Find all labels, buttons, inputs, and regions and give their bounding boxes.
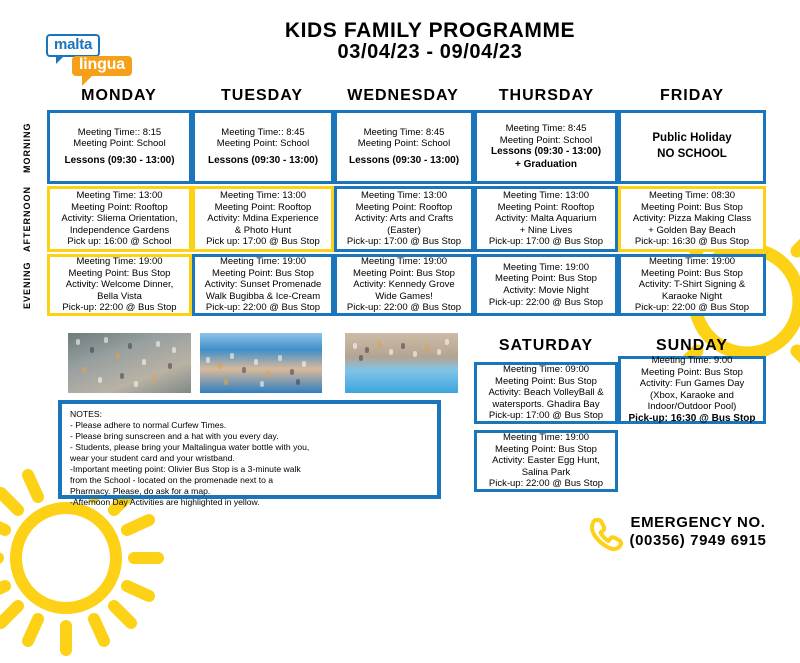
cell-line: Activity: Sliema Orientation, [61,213,177,225]
cell-line: Pick-up: 22:00 @ Bus Stop [489,297,603,309]
notes-item: -Afternoon Day Activities are highlighte… [70,497,429,508]
cell-line: Pick-up: 22:00 @ Bus Stop [62,302,176,314]
cell-line: Meeting Point: Rooftop [356,202,453,214]
cell-line: Meeting Point: Rooftop [71,202,168,214]
notes-title: NOTES: [70,409,429,420]
cell-line: Activity: Kennedy Grove [353,279,454,291]
cell-saturday-morning[interactable]: Meeting Time: 09:00 Meeting Point: Bus S… [474,362,618,424]
cell-line: (Easter) [387,225,421,237]
cell-friday-evening[interactable]: Meeting Time: 19:00 Meeting Point: Bus S… [618,254,766,316]
cell-line: Pick-up: 17:00 @ Bus Stop [489,410,603,422]
row-label-evening: EVENING [22,254,40,316]
cell-highlight: Lessons (09:30 - 13:00) [491,146,601,158]
cell-line: Bella Vista [97,291,142,303]
cell-line: Wide Games! [375,291,433,303]
cell-sunday-allday[interactable]: Meeting Time: 9:00 Meeting Point: Bus St… [618,356,766,424]
cell-thursday-evening[interactable]: Meeting Time: 19:00 Meeting Point: Bus S… [474,254,618,316]
day-header-saturday: SATURDAY [474,337,618,355]
cell-line: Pick up: 16:00 @ School [67,236,171,248]
cell-line: Activity: Mdina Experience [207,213,318,225]
day-header-tuesday: TUESDAY [192,87,332,105]
cell-line: Activity: Movie Night [503,285,589,297]
cell-line: Pick up: 17:00 @ Bus Stop [206,236,320,248]
day-header-wednesday: WEDNESDAY [333,87,473,105]
cell-line: Meeting Point: Bus Stop [495,273,597,285]
row-label-morning: MORNING [22,112,40,184]
notes-item: - Please adhere to normal Curfew Times. [70,420,429,431]
cell-line: Activity: Welcome Dinner, [66,279,174,291]
maltalingua-logo: malta lingua [46,34,142,86]
notes-item: - Please bring sunscreen and a hat with … [70,431,429,442]
cell-line: Activity: Pizza Making Class [633,213,751,225]
cell-line: Meeting Point: Bus Stop [641,367,743,379]
page-title: KIDS FAMILY PROGRAMME 03/04/23 - 09/04/2… [270,20,590,63]
cell-line: Meeting Point: Rooftop [498,202,595,214]
title-main: KIDS FAMILY PROGRAMME [270,20,590,42]
cell-line: + Golden Bay Beach [648,225,735,237]
cell-line: Meeting Time: 19:00 [76,256,162,268]
cell-line: Meeting Time: 19:00 [649,256,735,268]
cell-line: (Xbox, Karaoke and [650,390,734,402]
day-header-sunday: SUNDAY [618,337,766,355]
cell-line: Meeting Point: Bus Stop [641,268,743,280]
cell-holiday-line2: NO SCHOOL [657,147,727,163]
logo-malta-text: malta [46,34,100,57]
cell-line: Meeting Point: School [73,138,165,150]
cell-line: Pick-up: 22:00 @ Bus Stop [635,302,749,314]
notes-item: - Students, please bring your Maltalingu… [70,442,429,453]
photo-texture [345,333,458,393]
cell-line: watersports. Ghadira Bay [492,399,599,411]
cell-monday-morning[interactable]: Meeting Time:: 8:15 Meeting Point: Schoo… [47,110,192,184]
cell-tuesday-evening[interactable]: Meeting Time: 19:00 Meeting Point: Bus S… [192,254,334,316]
cell-tuesday-afternoon[interactable]: Meeting Time: 13:00 Meeting Point: Rooft… [192,186,334,252]
notes-box: NOTES: - Please adhere to normal Curfew … [58,400,441,499]
cell-line: Meeting Point: Bus Stop [641,202,743,214]
cell-line: Meeting Point: Rooftop [215,202,312,214]
group-photo-beach-aerial [68,333,191,393]
group-photo-boat-party [200,333,322,393]
cell-line: Pick-up: 16:30 @ Bus Stop [635,236,749,248]
photo-texture [200,333,322,393]
cell-tuesday-morning[interactable]: Meeting Time:: 8:45 Meeting Point: Schoo… [192,110,334,184]
notes-item: Pharmacy. Please, do ask for a map. [70,486,429,497]
logo-lingua-text: lingua [72,56,132,76]
cell-line: Meeting Time: 13:00 [220,190,306,202]
notes-item: from the School - located on the promena… [70,475,429,486]
cell-line: Meeting Time: 8:45 [364,127,445,139]
cell-line: Pick-up: 17:00 @ Bus Stop [489,236,603,248]
cell-line: Meeting Time: 09:00 [503,364,589,376]
cell-line: Activity: Fun Games Day [640,378,745,390]
emergency-number: (00356) 7949 6915 [610,532,786,549]
notes-item: wear your student card and your wristban… [70,453,429,464]
cell-line: Activity: Beach VolleyBall & [488,387,603,399]
cell-line: Meeting Time: 19:00 [503,262,589,274]
day-header-monday: MONDAY [49,87,189,105]
cell-line: Pick-up: 22:00 @ Bus Stop [347,302,461,314]
cell-thursday-afternoon[interactable]: Meeting Time: 13:00 Meeting Point: Rooft… [474,186,618,252]
cell-line: Activity: T-Shirt Signing & [639,279,745,291]
day-header-thursday: THURSDAY [474,87,619,105]
cell-line: Meeting Point: School [500,135,592,147]
cell-line: Meeting Time:: 8:45 [221,127,304,139]
cell-line: Activity: Easter Egg Hunt, [492,455,600,467]
photo-texture [68,333,191,393]
cell-monday-evening[interactable]: Meeting Time: 19:00 Meeting Point: Bus S… [47,254,192,316]
cell-wednesday-morning[interactable]: Meeting Time: 8:45 Meeting Point: School… [334,110,474,184]
cell-line: Meeting Point: School [217,138,309,150]
group-photo-pool [345,333,458,393]
cell-line: Meeting Point: Bus Stop [353,268,455,280]
cell-thursday-morning[interactable]: Meeting Time: 8:45 Meeting Point: School… [474,110,618,184]
cell-line: Activity: Sunset Promenade [205,279,322,291]
cell-line: Salina Park [522,467,571,479]
cell-line: Karaoke Night [662,291,722,303]
cell-line: Meeting Time: 13:00 [361,190,447,202]
cell-line: Activity: Malta Aquarium [495,213,596,225]
day-header-friday: FRIDAY [618,87,766,105]
row-label-afternoon: AFTERNOON [22,186,40,252]
emergency-label: EMERGENCY NO. [610,515,786,532]
cell-line: Independence Gardens [70,225,169,237]
notes-item: -Important meeting point: Olivier Bus St… [70,464,429,475]
cell-line: Meeting Time: 13:00 [76,190,162,202]
cell-highlight: Lessons (09:30 - 13:00) [208,155,318,167]
cell-line: Meeting Point: Bus Stop [212,268,314,280]
cell-line: Meeting Point: Bus Stop [495,376,597,388]
cell-line: Walk Bugibba & Ice-Cream [206,291,320,303]
cell-line: Meeting Point: Bus Stop [69,268,171,280]
cell-saturday-evening[interactable]: Meeting Time: 19:00 Meeting Point: Bus S… [474,430,618,492]
cell-line: Pick-up: 22:00 @ Bus Stop [489,478,603,490]
cell-line: Meeting Time: 19:00 [361,256,447,268]
cell-line: Meeting Time: 19:00 [220,256,306,268]
cell-line: Meeting Time: 08:30 [649,190,735,202]
cell-line: Meeting Time: 13:00 [503,190,589,202]
cell-line: Meeting Point: Bus Stop [495,444,597,456]
cell-friday-afternoon[interactable]: Meeting Time: 08:30 Meeting Point: Bus S… [618,186,766,252]
emergency-contact: EMERGENCY NO. (00356) 7949 6915 [610,515,786,549]
cell-line: Meeting Time: 19:00 [503,432,589,444]
cell-line: Meeting Point: School [358,138,450,150]
cell-highlight2: + Graduation [515,159,577,171]
cell-line: Meeting Time: 8:45 [506,123,587,135]
cell-line: Indoor/Outdoor Pool) [648,401,737,413]
cell-line: Pick-up: 17:00 @ Bus Stop [347,236,461,248]
cell-wednesday-evening[interactable]: Meeting Time: 19:00 Meeting Point: Bus S… [334,254,474,316]
cell-highlight: Lessons (09:30 - 13:00) [349,155,459,167]
cell-line: Activity: Arts and Crafts [355,213,453,225]
cell-friday-morning[interactable]: Public Holiday NO SCHOOL [618,110,766,184]
cell-line: & Photo Hunt [235,225,292,237]
cell-line: Pick-up: 22:00 @ Bus Stop [206,302,320,314]
title-date-range: 03/04/23 - 09/04/23 [270,42,590,63]
cell-line: Meeting Time:: 8:15 [78,127,161,139]
cell-highlight: Pick-up: 16:30 @ Bus Stop [629,413,756,425]
cell-monday-afternoon[interactable]: Meeting Time: 13:00 Meeting Point: Rooft… [47,186,192,252]
cell-line: Meeting Time: 9:00 [652,355,733,367]
cell-wednesday-afternoon[interactable]: Meeting Time: 13:00 Meeting Point: Rooft… [334,186,474,252]
cell-holiday-line1: Public Holiday [652,131,731,147]
cell-line: + Nine Lives [520,225,573,237]
cell-highlight: Lessons (09:30 - 13:00) [64,155,174,167]
